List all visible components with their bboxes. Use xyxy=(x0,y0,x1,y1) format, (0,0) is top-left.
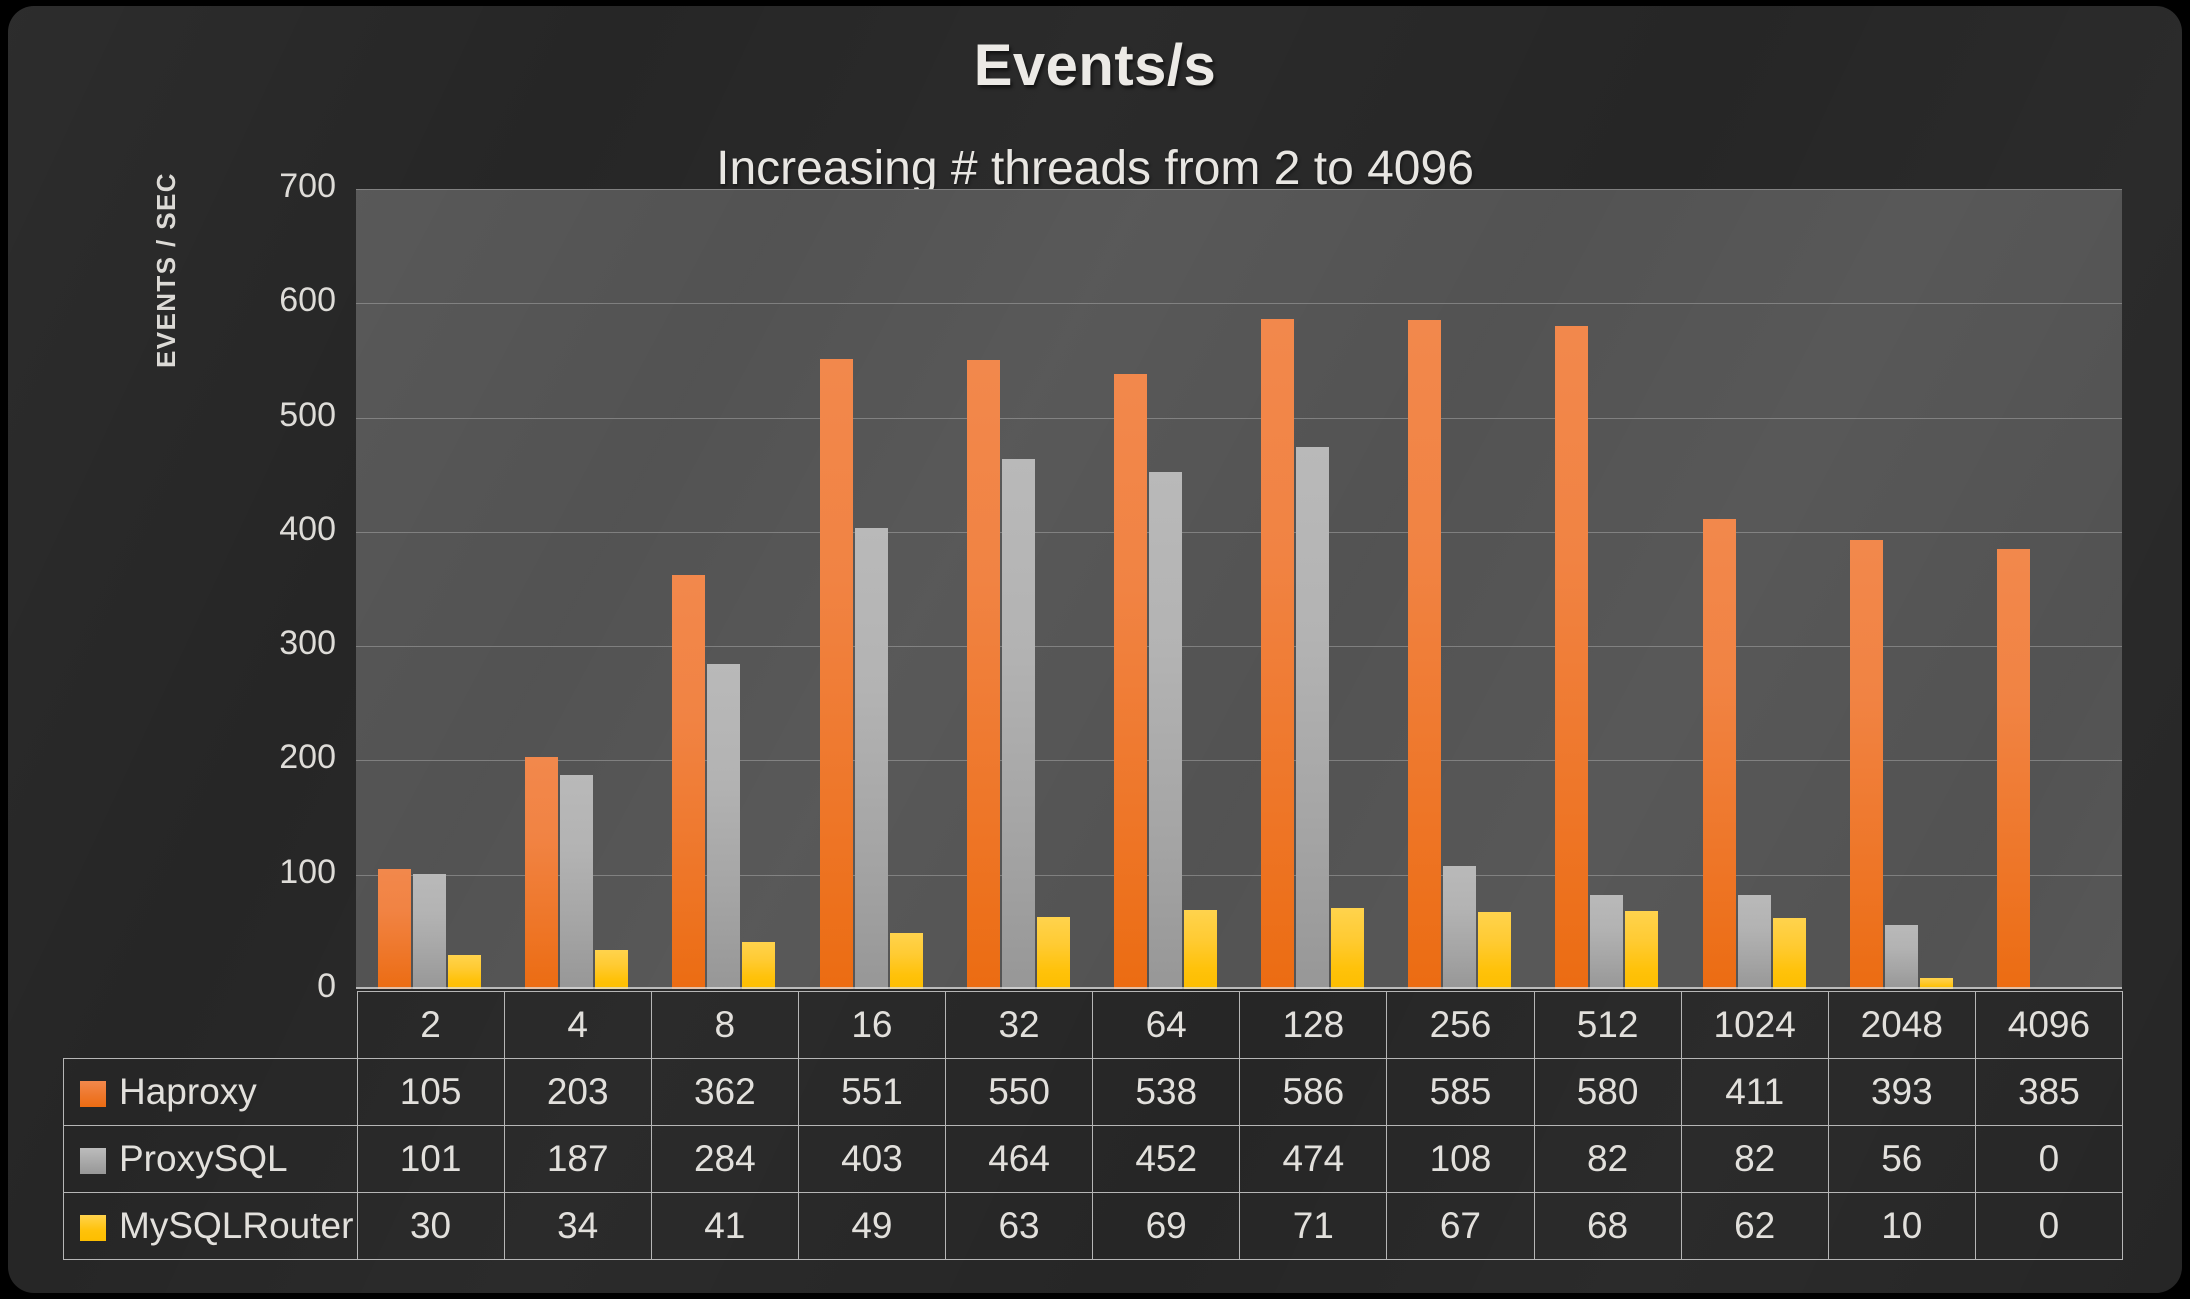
y-tick-label-200: 200 xyxy=(226,738,336,777)
bar-proxysql-128[interactable] xyxy=(1296,447,1329,989)
bar-proxysql-2[interactable] xyxy=(413,874,446,989)
table-cell-mysqlrouter-512: 68 xyxy=(1534,1193,1681,1260)
legend-label-mysqlrouter: MySQLRouter xyxy=(119,1205,353,1246)
table-cell-proxysql-1024: 82 xyxy=(1681,1126,1828,1193)
table-cell-haproxy-256: 585 xyxy=(1387,1059,1534,1126)
screenshot-root: Events/s Increasing # threads from 2 to … xyxy=(0,0,2190,1299)
table-cell-proxysql-128: 474 xyxy=(1240,1126,1387,1193)
table-cell-mysqlrouter-4096: 0 xyxy=(1975,1193,2122,1260)
bar-group-64 xyxy=(1092,189,1239,989)
bar-haproxy-128[interactable] xyxy=(1261,319,1294,989)
table-cell-haproxy-128: 586 xyxy=(1240,1059,1387,1126)
bar-haproxy-512[interactable] xyxy=(1555,326,1588,989)
bar-proxysql-4[interactable] xyxy=(560,775,593,989)
bar-group-256 xyxy=(1386,189,1533,989)
table-body: Haproxy105203362551550538586585580411393… xyxy=(64,1059,2123,1260)
legend-label-proxysql: ProxySQL xyxy=(119,1138,288,1179)
table-col-header-1024: 1024 xyxy=(1681,992,1828,1059)
bar-mysqlrouter-2[interactable] xyxy=(448,955,481,989)
table-cell-haproxy-64: 538 xyxy=(1093,1059,1240,1126)
y-tick-label-400: 400 xyxy=(226,510,336,549)
table-row: ProxySQL1011872844034644524741088282560 xyxy=(64,1126,2123,1193)
legend-item-mysqlrouter: MySQLRouter xyxy=(64,1193,358,1260)
legend-item-proxysql: ProxySQL xyxy=(64,1126,358,1193)
table-col-header-256: 256 xyxy=(1387,992,1534,1059)
bar-group-8 xyxy=(650,189,797,989)
table-header-row: 248163264128256512102420484096 xyxy=(64,992,2123,1059)
bar-proxysql-32[interactable] xyxy=(1002,459,1035,989)
bar-proxysql-8[interactable] xyxy=(707,664,740,989)
table-cell-haproxy-4: 203 xyxy=(504,1059,651,1126)
y-tick-label-100: 100 xyxy=(226,853,336,892)
legend-swatch-icon-haproxy xyxy=(80,1081,106,1107)
table-col-header-16: 16 xyxy=(798,992,945,1059)
bar-mysqlrouter-4[interactable] xyxy=(595,950,628,989)
bar-mysqlrouter-128[interactable] xyxy=(1331,908,1364,989)
table-corner-cell xyxy=(64,992,358,1059)
bar-haproxy-8[interactable] xyxy=(672,575,705,989)
table-col-header-32: 32 xyxy=(946,992,1093,1059)
bar-mysqlrouter-1024[interactable] xyxy=(1773,918,1806,989)
table-cell-haproxy-8: 362 xyxy=(651,1059,798,1126)
table-col-header-64: 64 xyxy=(1093,992,1240,1059)
bar-proxysql-1024[interactable] xyxy=(1738,895,1771,989)
table-row: Haproxy105203362551550538586585580411393… xyxy=(64,1059,2123,1126)
bar-haproxy-256[interactable] xyxy=(1408,320,1441,989)
table-cell-haproxy-512: 580 xyxy=(1534,1059,1681,1126)
bar-group-4 xyxy=(503,189,650,989)
y-axis-title: EVENTS / SEC xyxy=(151,28,182,368)
table-cell-mysqlrouter-2048: 10 xyxy=(1828,1193,1975,1260)
bar-mysqlrouter-256[interactable] xyxy=(1478,912,1511,989)
bar-proxysql-256[interactable] xyxy=(1443,866,1476,989)
chart-title: Events/s xyxy=(8,32,2182,99)
bar-haproxy-4096[interactable] xyxy=(1997,549,2030,989)
axis-baseline xyxy=(356,987,2122,989)
table-header: 248163264128256512102420484096 xyxy=(64,992,2123,1059)
slide-panel: Events/s Increasing # threads from 2 to … xyxy=(8,6,2182,1293)
table-cell-mysqlrouter-8: 41 xyxy=(651,1193,798,1260)
bar-haproxy-2[interactable] xyxy=(378,869,411,989)
legend-swatch-icon-mysqlrouter xyxy=(80,1215,106,1241)
bar-group-4096 xyxy=(1975,189,2122,989)
bar-proxysql-16[interactable] xyxy=(855,528,888,989)
table-col-header-512: 512 xyxy=(1534,992,1681,1059)
plot-area xyxy=(356,189,2122,989)
table-cell-proxysql-8: 284 xyxy=(651,1126,798,1193)
data-table: 248163264128256512102420484096 Haproxy10… xyxy=(63,991,2123,1260)
table-col-header-4096: 4096 xyxy=(1975,992,2122,1059)
table-cell-haproxy-1024: 411 xyxy=(1681,1059,1828,1126)
y-tick-label-600: 600 xyxy=(226,281,336,320)
table-cell-haproxy-32: 550 xyxy=(946,1059,1093,1126)
table-col-header-2: 2 xyxy=(357,992,504,1059)
table-cell-mysqlrouter-4: 34 xyxy=(504,1193,651,1260)
bar-group-128 xyxy=(1239,189,1386,989)
bar-mysqlrouter-16[interactable] xyxy=(890,933,923,989)
table-cell-proxysql-4: 187 xyxy=(504,1126,651,1193)
table-cell-proxysql-32: 464 xyxy=(946,1126,1093,1193)
bar-proxysql-512[interactable] xyxy=(1590,895,1623,989)
table-row: MySQLRouter30344149636971676862100 xyxy=(64,1193,2123,1260)
bar-mysqlrouter-512[interactable] xyxy=(1625,911,1658,989)
table-cell-haproxy-2048: 393 xyxy=(1828,1059,1975,1126)
bar-mysqlrouter-64[interactable] xyxy=(1184,910,1217,989)
bar-mysqlrouter-8[interactable] xyxy=(742,942,775,989)
legend-item-haproxy: Haproxy xyxy=(64,1059,358,1126)
table-cell-mysqlrouter-64: 69 xyxy=(1093,1193,1240,1260)
legend-label-haproxy: Haproxy xyxy=(119,1071,257,1112)
table-cell-proxysql-64: 452 xyxy=(1093,1126,1240,1193)
table-cell-mysqlrouter-2: 30 xyxy=(357,1193,504,1260)
bar-proxysql-64[interactable] xyxy=(1149,472,1182,989)
table-cell-proxysql-4096: 0 xyxy=(1975,1126,2122,1193)
y-tick-label-700: 700 xyxy=(226,167,336,206)
bar-group-2 xyxy=(356,189,503,989)
table-cell-proxysql-256: 108 xyxy=(1387,1126,1534,1193)
bar-haproxy-32[interactable] xyxy=(967,360,1000,989)
table-cell-mysqlrouter-16: 49 xyxy=(798,1193,945,1260)
table-cell-proxysql-2: 101 xyxy=(357,1126,504,1193)
table-cell-mysqlrouter-32: 63 xyxy=(946,1193,1093,1260)
table-cell-haproxy-16: 551 xyxy=(798,1059,945,1126)
table-cell-proxysql-16: 403 xyxy=(798,1126,945,1193)
bar-haproxy-2048[interactable] xyxy=(1850,540,1883,989)
table-col-header-128: 128 xyxy=(1240,992,1387,1059)
y-tick-label-300: 300 xyxy=(226,624,336,663)
y-tick-label-500: 500 xyxy=(226,396,336,435)
bar-group-2048 xyxy=(1828,189,1975,989)
table-cell-proxysql-2048: 56 xyxy=(1828,1126,1975,1193)
table-cell-mysqlrouter-128: 71 xyxy=(1240,1193,1387,1260)
bar-haproxy-64[interactable] xyxy=(1114,374,1147,989)
table-cell-haproxy-2: 105 xyxy=(357,1059,504,1126)
bar-group-16 xyxy=(798,189,945,989)
bar-group-512 xyxy=(1533,189,1680,989)
table-cell-mysqlrouter-1024: 62 xyxy=(1681,1193,1828,1260)
table-cell-mysqlrouter-256: 67 xyxy=(1387,1193,1534,1260)
table-col-header-8: 8 xyxy=(651,992,798,1059)
bar-group-1024 xyxy=(1681,189,1828,989)
bar-group-32 xyxy=(945,189,1092,989)
bar-haproxy-4[interactable] xyxy=(525,757,558,989)
bar-haproxy-1024[interactable] xyxy=(1703,519,1736,989)
bar-proxysql-2048[interactable] xyxy=(1885,925,1918,989)
bar-haproxy-16[interactable] xyxy=(820,359,853,989)
table-cell-proxysql-512: 82 xyxy=(1534,1126,1681,1193)
table-col-header-4: 4 xyxy=(504,992,651,1059)
legend-swatch-icon-proxysql xyxy=(80,1148,106,1174)
table-col-header-2048: 2048 xyxy=(1828,992,1975,1059)
table-cell-haproxy-4096: 385 xyxy=(1975,1059,2122,1126)
bar-mysqlrouter-32[interactable] xyxy=(1037,917,1070,989)
